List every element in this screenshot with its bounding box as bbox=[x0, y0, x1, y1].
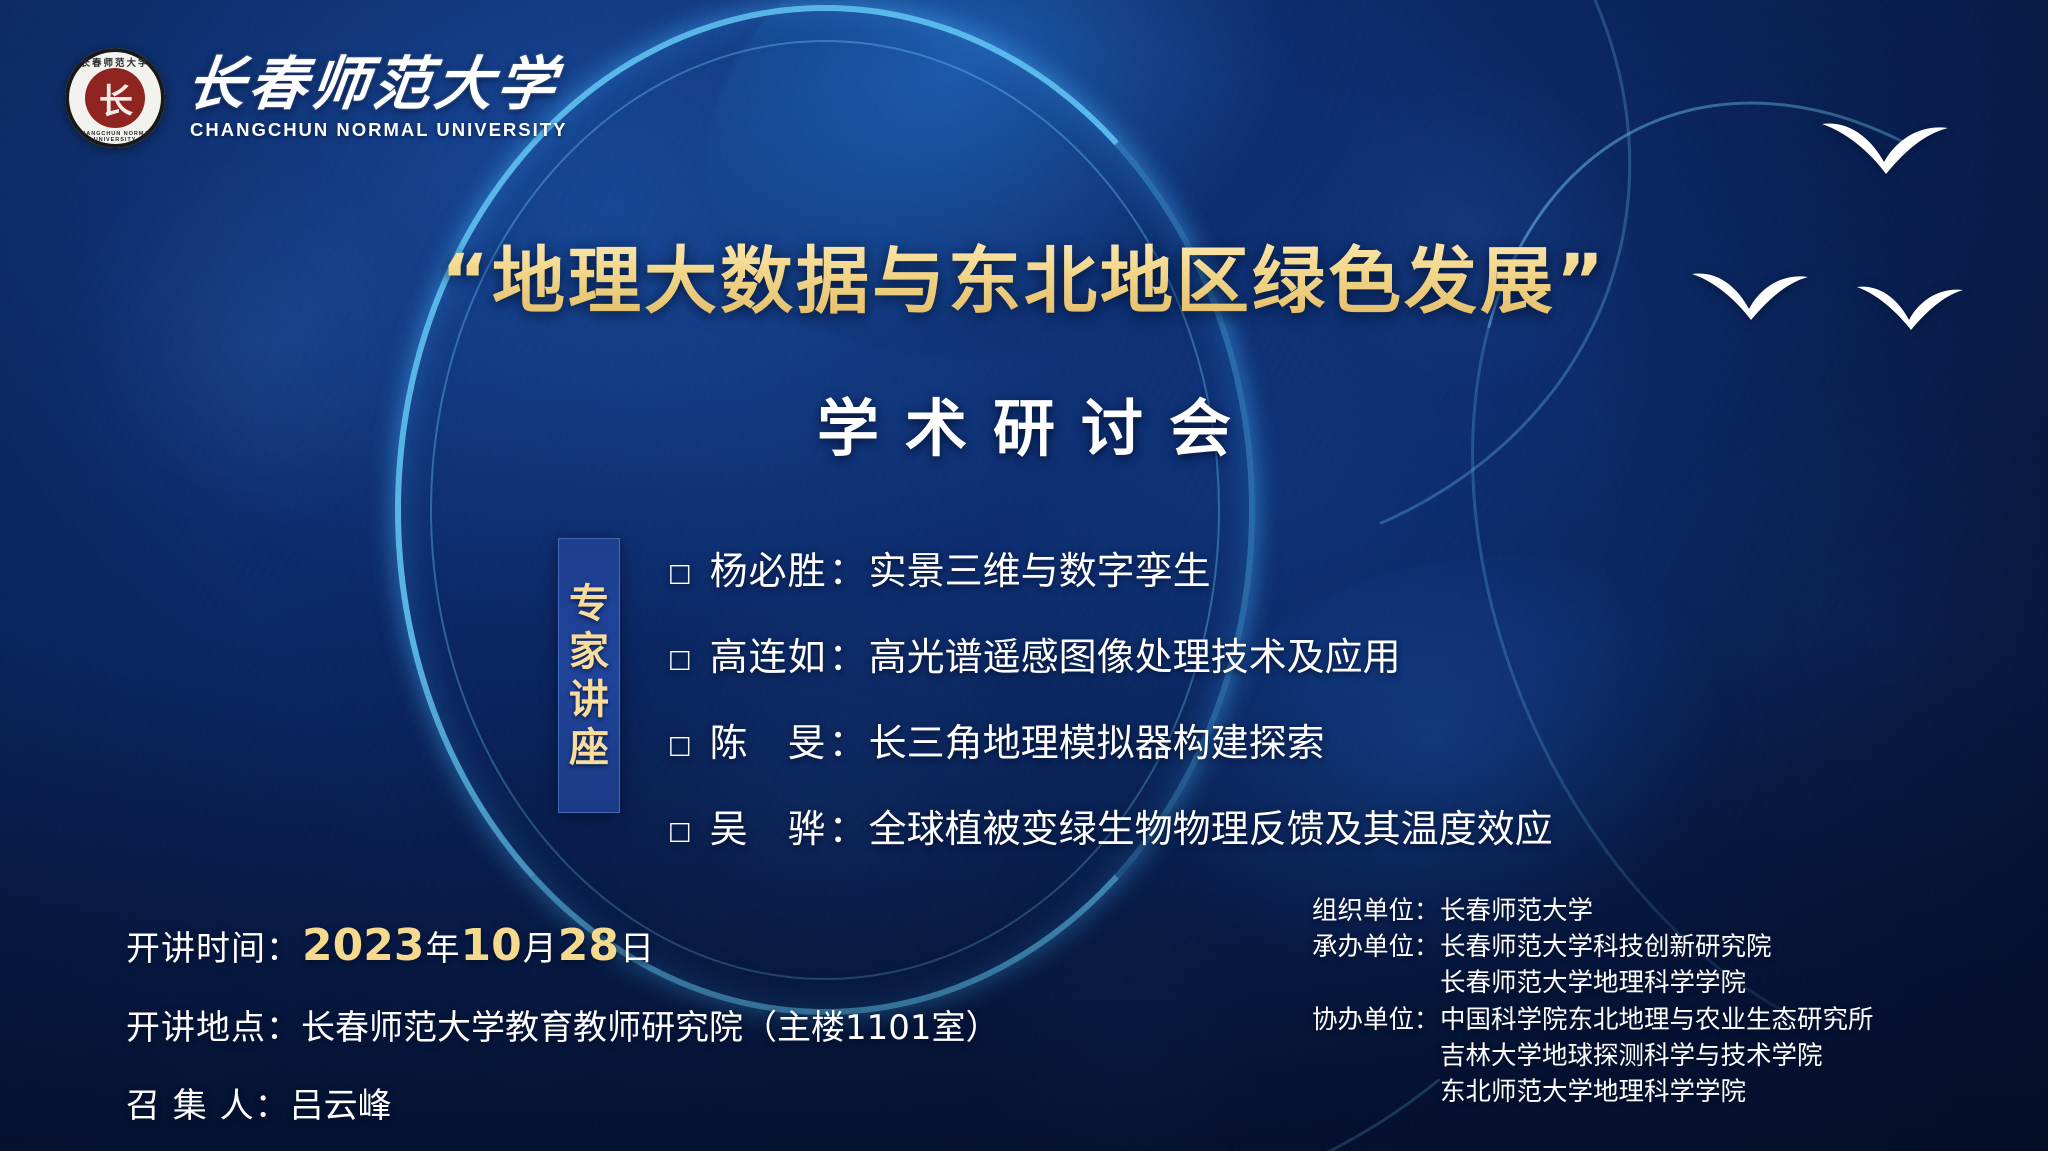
university-name-en: CHANGCHUN NORMAL UNIVERSITY bbox=[190, 119, 567, 141]
speaker-row: □陈 旻：长三角地理模拟器构建探索 bbox=[668, 712, 1868, 767]
checkbox-icon: □ bbox=[668, 646, 692, 671]
event-info-label: 开讲地点： bbox=[126, 1000, 301, 1049]
speaker-name: 陈 旻 bbox=[710, 721, 827, 765]
organizer-row: 组织单位：长春师范大学 bbox=[1312, 893, 1874, 929]
date-unit: 年 bbox=[425, 929, 459, 969]
checkbox-icon: □ bbox=[668, 560, 692, 585]
poster-subtitle: 学术研讨会 bbox=[0, 378, 2048, 468]
poster-canvas: 长春师范大学 长 CHANGCHUN NORMAL UNIVERSITY 长春师… bbox=[0, 0, 2048, 1151]
event-info-row: 开讲地点：长春师范大学教育教师研究院（主楼1101室） bbox=[126, 1000, 1000, 1049]
university-name-cn: 长春师范大学 bbox=[183, 55, 571, 114]
organizer-value: 东北师范大学地理科学学院 bbox=[1440, 1074, 1874, 1110]
event-info-block: 开讲时间：2023年10月28日开讲地点：长春师范大学教育教师研究院（主楼110… bbox=[126, 920, 1000, 1151]
organizer-value: 长春师范大学 bbox=[1440, 893, 1593, 929]
seal-arc-top-text: 长春师范大学 bbox=[65, 55, 165, 69]
event-info-value: 2023年10月28日 bbox=[301, 920, 654, 971]
speaker-text: 高连如：高光谱遥感图像处理技术及应用 bbox=[710, 626, 1401, 681]
speaker-row: □杨必胜：实景三维与数字孪生 bbox=[668, 540, 1868, 595]
university-name-block: 长春师范大学 CHANGCHUN NORMAL UNIVERSITY bbox=[187, 55, 567, 141]
speaker-topic: 高光谱遥感图像处理技术及应用 bbox=[869, 635, 1401, 679]
event-info-label: 召 集 人： bbox=[126, 1078, 290, 1127]
organizer-label: 组织单位： bbox=[1312, 893, 1440, 929]
speaker-text: 陈 旻：长三角地理模拟器构建探索 bbox=[710, 712, 1325, 767]
university-logo-block: 长春师范大学 长 CHANGCHUN NORMAL UNIVERSITY 长春师… bbox=[65, 48, 567, 148]
checkbox-icon: □ bbox=[668, 732, 692, 757]
organizer-value: 中国科学院东北地理与农业生态研究所 bbox=[1440, 1002, 1874, 1038]
date-number: 28 bbox=[557, 920, 620, 971]
organizer-label: 协办单位： bbox=[1312, 1002, 1440, 1111]
speaker-separator: ： bbox=[827, 721, 869, 765]
organizer-values: 中国科学院东北地理与农业生态研究所吉林大学地球探测科学与技术学院东北师范大学地理… bbox=[1440, 1002, 1874, 1111]
event-info-row: 开讲时间：2023年10月28日 bbox=[126, 920, 1000, 971]
event-info-value: 长春师范大学教育教师研究院（主楼1101室） bbox=[301, 1000, 1000, 1049]
speaker-row: □高连如：高光谱遥感图像处理技术及应用 bbox=[668, 626, 1868, 681]
event-info-row: 召 集 人：吕云峰 bbox=[126, 1078, 1000, 1127]
date-number: 2023 bbox=[301, 920, 425, 971]
organizer-values: 长春师范大学 bbox=[1440, 893, 1593, 929]
date-unit: 日 bbox=[620, 929, 654, 969]
speaker-topic: 实景三维与数字孪生 bbox=[869, 549, 1211, 593]
expert-badge-char-1: 家 bbox=[569, 631, 609, 673]
speaker-text: 吴 骅：全球植被变绿生物物理反馈及其温度效应 bbox=[710, 798, 1553, 853]
speaker-topic: 全球植被变绿生物物理反馈及其温度效应 bbox=[869, 807, 1553, 851]
organizer-label: 承办单位： bbox=[1312, 929, 1440, 1001]
event-info-label: 开讲时间： bbox=[126, 921, 301, 970]
date-unit: 月 bbox=[523, 929, 557, 969]
university-seal-icon: 长春师范大学 长 CHANGCHUN NORMAL UNIVERSITY bbox=[65, 48, 165, 148]
poster-title: “地理大数据与东北地区绿色发展” bbox=[0, 222, 2048, 328]
expert-badge-char-3: 座 bbox=[569, 727, 609, 769]
seal-center-glyph: 长 bbox=[85, 68, 145, 128]
expert-badge-char-2: 讲 bbox=[569, 679, 609, 721]
organizer-row: 承办单位：长春师范大学科技创新研究院长春师范大学地理科学学院 bbox=[1312, 929, 1874, 1001]
seal-arc-bottom-text: CHANGCHUN NORMAL UNIVERSITY bbox=[65, 131, 165, 143]
date-number: 10 bbox=[459, 920, 522, 971]
speaker-row: □吴 骅：全球植被变绿生物物理反馈及其温度效应 bbox=[668, 798, 1868, 853]
speaker-name: 高连如 bbox=[710, 635, 827, 679]
speaker-list: □杨必胜：实景三维与数字孪生□高连如：高光谱遥感图像处理技术及应用□陈 旻：长三… bbox=[668, 540, 1868, 884]
speaker-separator: ： bbox=[827, 807, 869, 851]
organizer-value: 长春师范大学科技创新研究院 bbox=[1440, 929, 1772, 965]
speaker-topic: 长三角地理模拟器构建探索 bbox=[869, 721, 1325, 765]
organizer-value: 吉林大学地球探测科学与技术学院 bbox=[1440, 1038, 1874, 1074]
organizer-values: 长春师范大学科技创新研究院长春师范大学地理科学学院 bbox=[1440, 929, 1772, 1001]
expert-lecture-badge: 专家讲座 bbox=[558, 538, 620, 813]
speaker-separator: ： bbox=[827, 635, 869, 679]
speaker-name: 吴 骅 bbox=[710, 807, 827, 851]
organizers-block: 组织单位：长春师范大学承办单位：长春师范大学科技创新研究院长春师范大学地理科学学… bbox=[1312, 893, 1874, 1110]
speaker-name: 杨必胜 bbox=[710, 549, 827, 593]
speaker-separator: ： bbox=[827, 549, 869, 593]
organizer-value: 长春师范大学地理科学学院 bbox=[1440, 965, 1772, 1001]
speaker-text: 杨必胜：实景三维与数字孪生 bbox=[710, 540, 1211, 595]
seagull-icon-1 bbox=[1820, 118, 1950, 178]
expert-badge-char-0: 专 bbox=[569, 583, 609, 625]
event-info-value: 吕云峰 bbox=[290, 1078, 392, 1127]
organizer-row: 协办单位：中国科学院东北地理与农业生态研究所吉林大学地球探测科学与技术学院东北师… bbox=[1312, 1002, 1874, 1111]
checkbox-icon: □ bbox=[668, 818, 692, 843]
